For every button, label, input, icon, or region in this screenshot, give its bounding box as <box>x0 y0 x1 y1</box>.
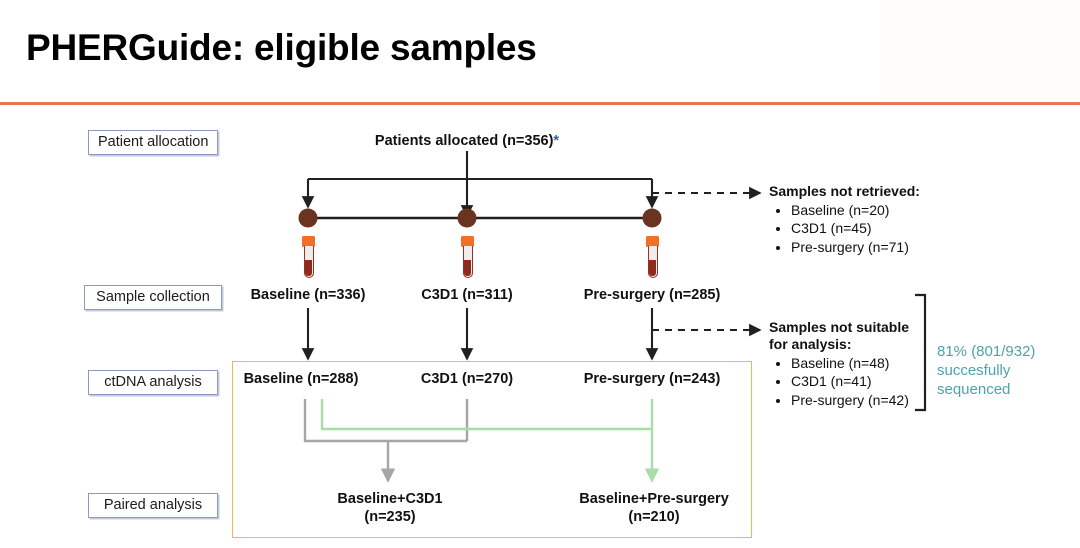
blood-tube-icon-c3d1 <box>461 236 474 278</box>
slide-canvas: PHERGuide: eligible samples <box>0 0 1080 548</box>
timepoint-dot-baseline <box>299 209 318 228</box>
note-heading: Samples not retrieved: <box>769 183 969 200</box>
node-text: C3D1 (n=270) <box>421 371 513 387</box>
note-list-item: Pre-surgery (n=71) <box>791 238 969 256</box>
ctdna-pre-surgery: Pre-surgery (n=243) <box>584 371 721 387</box>
sequencing-summary: 81% (801/932) succesfully sequenced <box>937 342 1077 400</box>
note-samples-not-retrieved: Samples not retrieved: Baseline (n=20) C… <box>769 183 969 256</box>
watermark-artifact <box>880 0 1080 100</box>
note-list-item: C3D1 (n=45) <box>791 219 969 237</box>
note-heading: Samples not suitable for analysis: <box>769 319 919 353</box>
note-list: Baseline (n=48) C3D1 (n=41) Pre-surgery … <box>769 354 919 409</box>
note-list: Baseline (n=20) C3D1 (n=45) Pre-surgery … <box>769 201 969 256</box>
sample-collection-c3d1: C3D1 (n=311) <box>421 287 512 303</box>
ctdna-c3d1: C3D1 (n=270) <box>421 371 513 387</box>
ctdna-baseline: Baseline (n=288) <box>244 371 359 387</box>
tube-blood-fill <box>305 260 312 276</box>
sample-collection-pre-surgery: Pre-surgery (n=285) <box>584 287 721 303</box>
node-text: Baseline (n=336) <box>251 287 366 303</box>
node-text: Baseline (n=288) <box>244 371 359 387</box>
blood-tube-icon-pre-surgery <box>646 236 659 278</box>
node-count: (n=235) <box>337 509 442 527</box>
timepoint-dot-c3d1 <box>458 209 477 228</box>
blood-tube-icon-baseline <box>302 236 315 278</box>
flow-diagram: Patient allocation Sample collection ctD… <box>0 103 1080 548</box>
node-text: Baseline+C3D1 <box>337 491 442 509</box>
paired-baseline-pre-surgery: Baseline+Pre-surgery (n=210) <box>579 491 729 526</box>
tube-blood-fill <box>464 260 471 276</box>
node-text: C3D1 (n=311) <box>421 287 512 303</box>
sequencing-summary-line1: 81% (801/932) <box>937 342 1077 361</box>
note-list-item: Pre-surgery (n=42) <box>791 391 919 409</box>
node-text: Pre-surgery (n=243) <box>584 371 721 387</box>
node-count: (n=210) <box>579 509 729 527</box>
sequencing-summary-line3: sequenced <box>937 380 1077 399</box>
sequencing-summary-line2: succesfully <box>937 361 1077 380</box>
note-list-item: Baseline (n=48) <box>791 354 919 372</box>
note-list-item: Baseline (n=20) <box>791 201 969 219</box>
node-text: Pre-surgery (n=285) <box>584 287 721 303</box>
tube-blood-fill <box>649 260 656 276</box>
paired-baseline-c3d1: Baseline+C3D1 (n=235) <box>337 491 442 526</box>
timepoint-dot-pre-surgery <box>643 209 662 228</box>
sample-collection-baseline: Baseline (n=336) <box>251 287 366 303</box>
note-list-item: C3D1 (n=41) <box>791 372 919 390</box>
node-text: Baseline+Pre-surgery <box>579 491 729 509</box>
page-title: PHERGuide: eligible samples <box>26 28 537 69</box>
note-samples-not-suitable: Samples not suitable for analysis: Basel… <box>769 319 919 409</box>
